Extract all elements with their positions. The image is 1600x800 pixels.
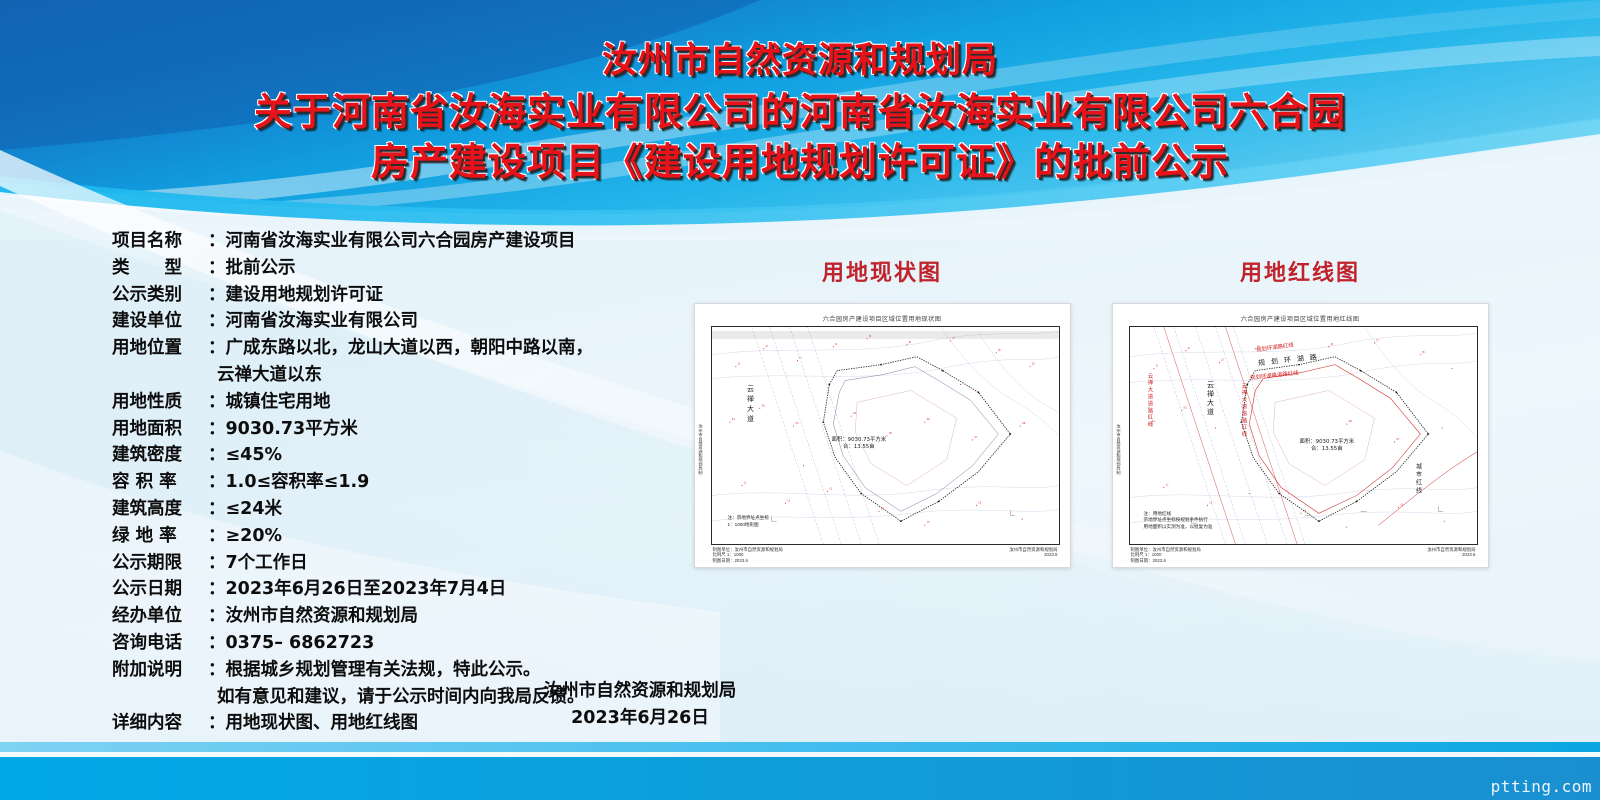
info-row: 绿 地 率：≥20% xyxy=(112,523,672,550)
info-row-label: 项目名称 xyxy=(112,228,208,255)
info-row-value: 9030.73平方米 xyxy=(226,416,673,443)
map-city-line-label-right: 城市红线 xyxy=(1414,463,1423,495)
signature-org: 汝州市自然资源和规划局 xyxy=(430,678,850,705)
info-row-value: 1.0≤容积率≤1.9 xyxy=(226,469,673,496)
info-row: 咨询电话：0375– 6862723 xyxy=(112,630,672,657)
info-row: 类 型：批前公示 xyxy=(112,255,672,282)
info-row-value: 城镇住宅用地 xyxy=(226,389,673,416)
info-row-value: 7个工作日 xyxy=(226,550,673,577)
info-row-colon: ： xyxy=(208,523,226,550)
info-row-value: ≤24米 xyxy=(226,496,673,523)
map-foot-left-text-right: 制图单位：汝州市自然资源和规划局 比例尺 1：1000 制图日期：2023.6 xyxy=(1131,547,1201,563)
map-side-tag-right: 汝州市自然资源和规划局制 xyxy=(1116,424,1122,474)
info-row-colon: ： xyxy=(208,710,226,737)
info-row-value: 批前公示 xyxy=(226,255,673,282)
info-row-label: 用地性质 xyxy=(112,389,208,416)
poster-title-line-2: 关于河南省汝海实业有限公司的河南省汝海实业有限公司六合园 xyxy=(0,89,1600,135)
info-row-label: 详细内容 xyxy=(112,710,208,737)
poster-titles: 汝州市自然资源和规划局 关于河南省汝海实业有限公司的河南省汝海实业有限公司六合园… xyxy=(0,40,1600,185)
project-info-list: 项目名称：河南省汝海实业有限公司六合园房产建设项目类 型：批前公示公示类别：建设… xyxy=(112,228,672,737)
info-row: 用地位置：广成东路以北，龙山大道以西，朝阳中路以南， xyxy=(112,335,672,362)
map-drawing-frame-right: J1J2J3 J4J6J7 J8K1K2 K6K7L1 L2L4L6 规划环湖 xyxy=(1129,326,1478,545)
map-foot-right-text-right: 汝州市自然资源和规划局 2023.6 xyxy=(1427,547,1475,558)
map-caption-current-status: 用地现状图 xyxy=(682,255,1082,287)
info-row-label: 建筑高度 xyxy=(112,496,208,523)
cadastral-drawing-left: J1J2J3 J4J5J6 J7J8J9 K1K2K3 K4K5K6 K7K8 … xyxy=(712,327,1059,544)
footer-bars xyxy=(0,742,1600,800)
info-row-label: 用地位置 xyxy=(112,335,208,362)
svg-text:K7: K7 xyxy=(974,436,978,439)
info-row-colon: ： xyxy=(208,416,226,443)
info-row-colon: ： xyxy=(208,228,226,255)
info-row: 建设单位：河南省汝海实业有限公司 xyxy=(112,308,672,335)
svg-text:K1: K1 xyxy=(731,418,735,421)
info-row-value: ≤45% xyxy=(226,442,673,469)
info-row-value: 河南省汝海实业有限公司 xyxy=(226,308,673,335)
info-row-value: 0375– 6862723 xyxy=(226,630,673,657)
info-row-colon: ： xyxy=(208,255,226,282)
svg-text:K4: K4 xyxy=(853,412,857,415)
svg-text:J2: J2 xyxy=(764,345,768,348)
map-legend-right: 注：用地红线 宗地界址点坐标按规划条件执行 用地面积以实测为准，以批复为准 xyxy=(1144,511,1213,531)
svg-text:K2: K2 xyxy=(761,404,765,407)
svg-text:J4: J4 xyxy=(834,343,838,346)
svg-text:L3: L3 xyxy=(829,488,832,491)
svg-text:J8: J8 xyxy=(1421,351,1425,354)
map-card-current-status[interactable]: 六合园房产建设项目区域位置用地现状图 汝州市自然资源和规划局制 xyxy=(694,303,1071,568)
info-row-label: 建筑密度 xyxy=(112,442,208,469)
footer-bar-main xyxy=(0,757,1600,800)
svg-text:L6: L6 xyxy=(978,501,981,504)
svg-text:K3: K3 xyxy=(795,422,799,425)
map-footer-right: 制图单位：汝州市自然资源和规划局 比例尺 1：1000 制图日期：2023.6 … xyxy=(1131,547,1476,565)
info-row-value: 广成东路以北，龙山大道以西，朝阳中路以南， xyxy=(226,335,673,362)
info-row-value: 2023年6月26日至2023年7月4日 xyxy=(226,576,673,603)
svg-text:J3: J3 xyxy=(1220,359,1224,362)
info-row-colon: ： xyxy=(208,442,226,469)
map-drawing-frame-left: J1J2J3 J4J5J6 J7J8J9 K1K2K3 K4K5K6 K7K8 … xyxy=(711,326,1060,545)
info-row: 公示类别：建设用地规划许可证 xyxy=(112,282,672,309)
map-caption-red-line: 用地红线图 xyxy=(1100,255,1500,287)
signature-block: 汝州市自然资源和规划局 2023年6月26日 xyxy=(430,678,850,732)
map-side-tag-left: 汝州市自然资源和规划局制 xyxy=(698,424,704,474)
info-row-label: 建设单位 xyxy=(112,308,208,335)
map-road-label-c-right: 云禅大道道路红线 xyxy=(1240,383,1248,438)
info-row-colon: ： xyxy=(208,550,226,577)
footer-bar-light xyxy=(0,742,1600,752)
svg-text:J1: J1 xyxy=(1154,365,1158,368)
svg-text:L2: L2 xyxy=(787,499,790,502)
info-row: 建筑高度：≤24米 xyxy=(112,496,672,523)
info-row: 用地面积：9030.73平方米 xyxy=(112,416,672,443)
info-row: 容 积 率：1.0≤容积率≤1.9 xyxy=(112,469,672,496)
info-row-colon: ： xyxy=(208,657,226,684)
map-road-label-b-right: 云禅大道道路红线 xyxy=(1146,373,1154,428)
svg-text:K6: K6 xyxy=(1348,420,1352,423)
map-card-red-line[interactable]: 六合园房产建设项目区域位置用地红线图 汝州市自然资源和规划局制 xyxy=(1112,303,1489,568)
map-road-label-left: 云禅大道 xyxy=(746,385,756,425)
info-row: 公示期限：7个工作日 xyxy=(112,550,672,577)
svg-text:J6: J6 xyxy=(1329,343,1333,346)
info-row-label: 经办单位 xyxy=(112,603,208,630)
info-row-label: 公示日期 xyxy=(112,576,208,603)
info-row-label: 容 积 率 xyxy=(112,469,208,496)
info-row-value: ≥20% xyxy=(226,523,673,550)
svg-text:L4: L4 xyxy=(881,507,884,510)
map-legend-left: 注：宗地界址点坐标 1：1000地形图 xyxy=(728,515,769,528)
info-row-colon: ： xyxy=(208,496,226,523)
info-row-colon: ： xyxy=(208,576,226,603)
map-road-label-a-right: 云禅大道 xyxy=(1206,381,1216,417)
svg-text:J1: J1 xyxy=(736,363,740,366)
info-row-colon: ： xyxy=(208,389,226,416)
info-row-colon: ： xyxy=(208,469,226,496)
info-row-label: 附加说明 xyxy=(112,657,208,684)
info-row: 公示日期：2023年6月26日至2023年7月4日 xyxy=(112,576,672,603)
svg-text:J6: J6 xyxy=(907,341,911,344)
info-row: 用地性质：城镇住宅用地 xyxy=(112,389,672,416)
svg-text:J5: J5 xyxy=(868,335,872,338)
map-column-current-status: 用地现状图 六合园房产建设项目区域位置用地现状图 汝州市自然资源和规划局制 xyxy=(682,255,1082,568)
org-title: 汝州市自然资源和规划局 xyxy=(0,40,1600,83)
info-row-colon: ： xyxy=(208,335,226,362)
svg-text:J2: J2 xyxy=(1186,347,1190,350)
info-row-label: 公示类别 xyxy=(112,282,208,309)
info-row-colon: ： xyxy=(208,282,226,309)
info-row-colon: ： xyxy=(208,630,226,657)
info-row-value: 建设用地规划许可证 xyxy=(226,282,673,309)
map-foot-left-text: 制图单位：汝州市自然资源和规划局 比例尺 1：1000 制图日期：2023.6 xyxy=(713,547,783,563)
poster-title-line-3: 房产建设项目《建设用地规划许可证》的批前公示 xyxy=(0,139,1600,185)
svg-text:J3: J3 xyxy=(798,357,802,360)
svg-text:J7: J7 xyxy=(951,337,955,340)
svg-text:L6: L6 xyxy=(1400,503,1403,506)
signature-date: 2023年6月26日 xyxy=(430,705,850,732)
svg-text:K6: K6 xyxy=(926,418,930,421)
info-row-label: 类 型 xyxy=(112,255,208,282)
map-column-red-line: 用地红线图 六合园房产建设项目区域位置用地红线图 汝州市自然资源和规划局制 xyxy=(1100,255,1500,568)
info-row-colon: ： xyxy=(208,603,226,630)
svg-text:K8: K8 xyxy=(1022,422,1026,425)
map-area-label-right: 面积：9030.73平方米合：13.55亩 xyxy=(1300,439,1355,453)
publicity-poster: 汝州市自然资源和规划局 关于河南省汝海实业有限公司的河南省汝海实业有限公司六合园… xyxy=(0,0,1600,800)
map-area-label-left: 面积：9030.73平方米合：13.55亩 xyxy=(832,437,887,451)
info-row-value: 河南省汝海实业有限公司六合园房产建设项目 xyxy=(226,228,673,255)
watermark: ptting.com xyxy=(1491,777,1592,796)
svg-text:K7: K7 xyxy=(1396,438,1400,441)
info-row-label: 公示期限 xyxy=(112,550,208,577)
svg-text:J7: J7 xyxy=(1375,339,1379,342)
info-row: 经办单位：汝州市自然资源和规划局 xyxy=(112,603,672,630)
map-inner-title-right: 六合园房产建设项目区域位置用地红线图 xyxy=(1113,314,1488,323)
map-inner-title-left: 六合园房产建设项目区域位置用地现状图 xyxy=(695,314,1070,323)
svg-text:L4: L4 xyxy=(1303,509,1306,512)
map-section: 用地现状图 六合园房产建设项目区域位置用地现状图 汝州市自然资源和规划局制 xyxy=(660,255,1540,625)
info-row: 建筑密度：≤45% xyxy=(112,442,672,469)
svg-text:L5: L5 xyxy=(926,521,929,524)
info-row: 项目名称：河南省汝海实业有限公司六合园房产建设项目 xyxy=(112,228,672,255)
info-row-label: 咨询电话 xyxy=(112,630,208,657)
svg-text:L1: L1 xyxy=(743,482,746,485)
svg-text:K5: K5 xyxy=(888,432,892,435)
info-row-label: 绿 地 率 xyxy=(112,523,208,550)
svg-text:L1: L1 xyxy=(1165,484,1168,487)
info-row-label: 用地面积 xyxy=(112,416,208,443)
svg-text:K2: K2 xyxy=(1183,406,1187,409)
map-footer-left: 制图单位：汝州市自然资源和规划局 比例尺 1：1000 制图日期：2023.6 … xyxy=(713,547,1058,565)
map-foot-right-text: 汝州市自然资源和规划局 2023.6 xyxy=(1009,547,1057,558)
info-row-value: 汝州市自然资源和规划局 xyxy=(226,603,673,630)
svg-text:J9: J9 xyxy=(1031,363,1035,366)
info-row-colon: ： xyxy=(208,308,226,335)
svg-text:J8: J8 xyxy=(997,349,1001,352)
info-row-continuation: 云禅大道以东 xyxy=(112,362,672,389)
svg-text:L2: L2 xyxy=(1209,501,1212,504)
